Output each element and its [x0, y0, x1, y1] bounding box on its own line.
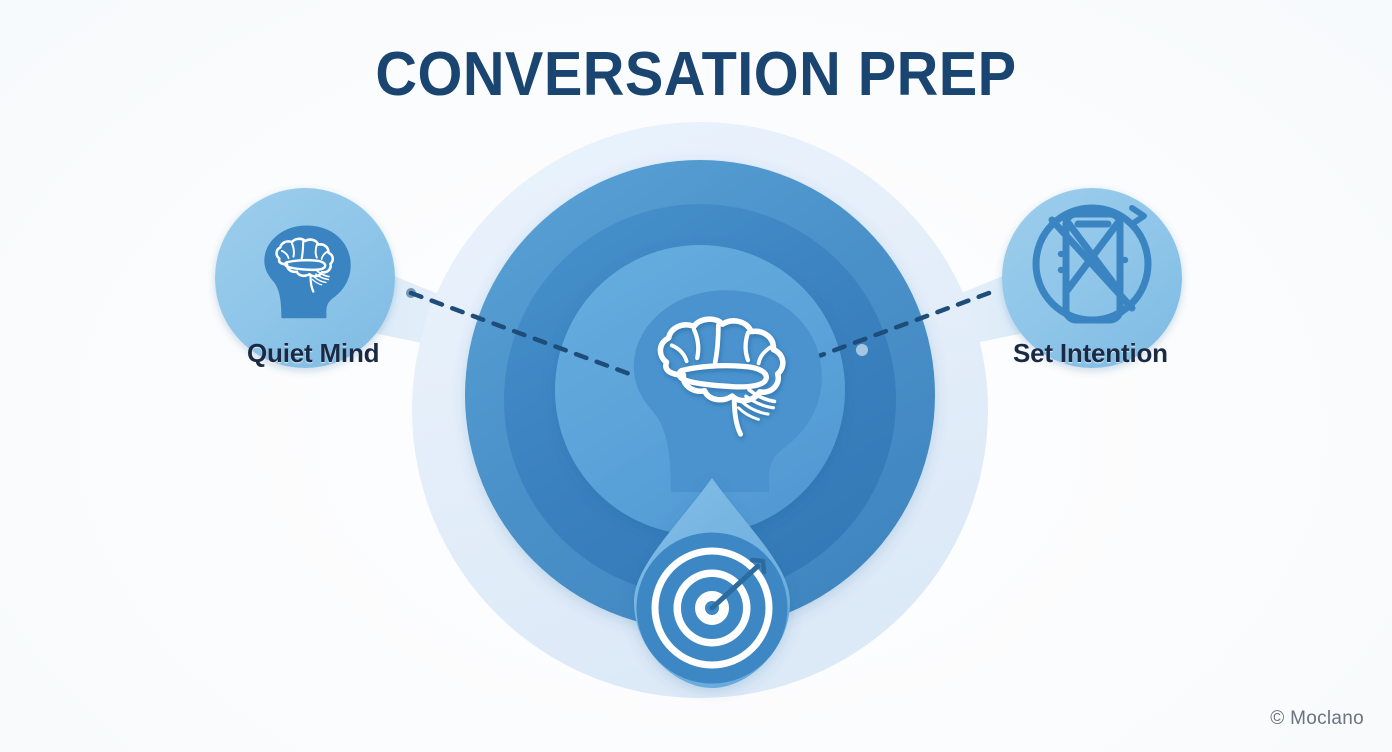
diagram-svg	[0, 0, 1392, 752]
infographic-canvas: CONVERSATION PREP Quiet Mind Set Intenti…	[0, 0, 1392, 752]
target-bullseye-arrow-icon	[644, 540, 780, 676]
page-title: CONVERSATION PREP	[49, 44, 1344, 106]
node-label-set-intention: Set Intention	[1013, 338, 1168, 369]
node-label-quiet-mind: Quiet Mind	[247, 338, 379, 369]
credit-watermark: © Moclano	[1270, 708, 1364, 730]
